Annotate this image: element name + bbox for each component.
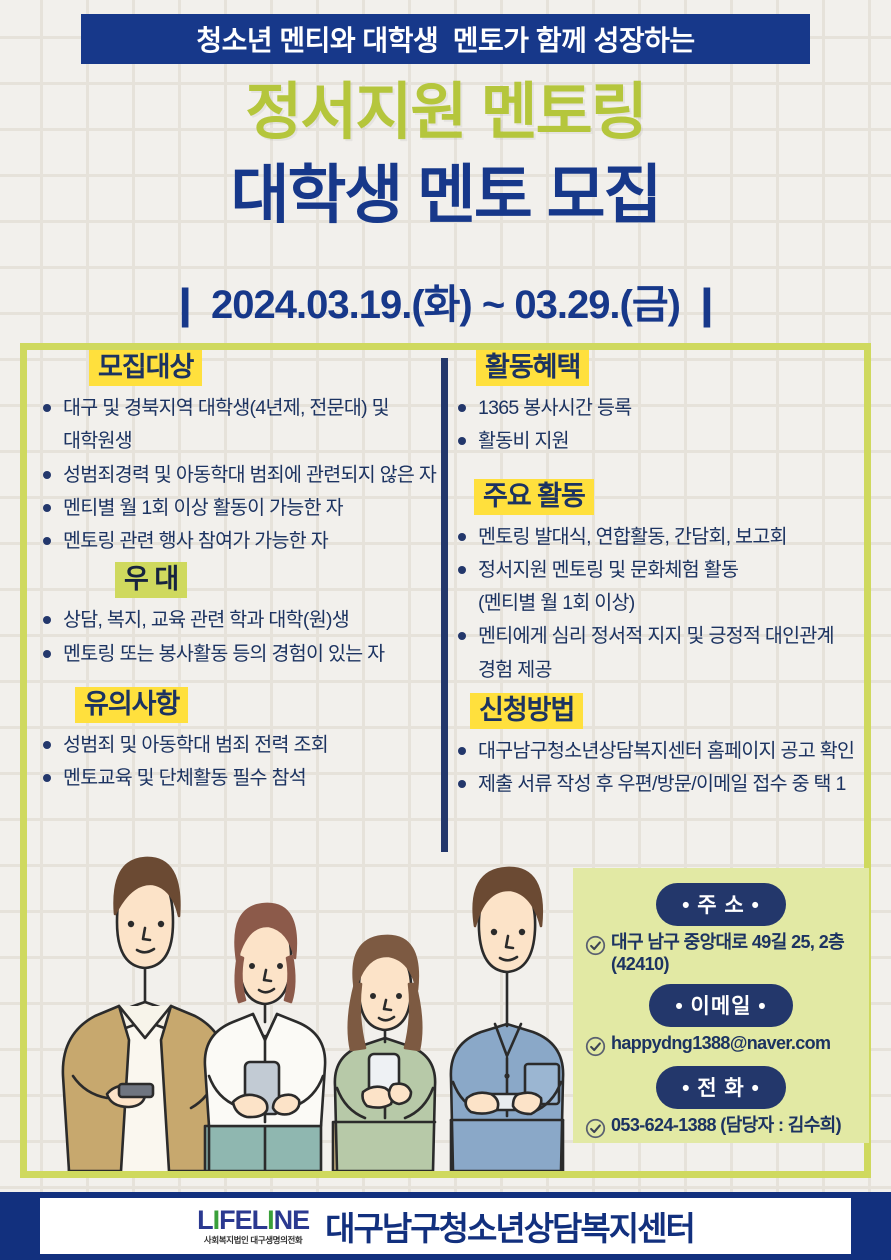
bullet-list: 상담, 복지, 교육 관련 학과 대학(원)생 멘토링 또는 봉사활동 등의 경…: [37, 605, 441, 668]
students-illustration: [33, 826, 593, 1171]
poster-canvas: 청소년 멘티와 대학생 멘토가 함께 성장하는 정서지원 멘토링 대학생 멘토 …: [0, 0, 891, 1260]
email-value: happydng1388@naver.com: [611, 1033, 830, 1055]
list-item: 정서지원 멘토링 및 문화체험 활동: [452, 555, 862, 585]
lifeline-logo-subtitle: 사회복지법인 대구생명의전화: [197, 1236, 309, 1245]
phone-row: 053-624-1388 (담당자 : 김수희): [583, 1115, 859, 1143]
list-item: 멘토링 또는 봉사활동 등의 경험이 있는 자: [37, 639, 441, 669]
section-heading: 활동혜택: [476, 350, 589, 386]
section-how-to-apply: 신청방법 대구남구청소년상담복지센터 홈페이지 공고 확인 제출 서류 작성 후…: [452, 693, 862, 800]
section-heading: 모집대상: [89, 350, 202, 386]
list-item: 1365 봉사시간 등록: [452, 393, 862, 423]
bullet-list: 성범죄 및 아동학대 범죄 전력 조회 멘토교육 및 단체활동 필수 참석: [37, 730, 441, 793]
list-item: 제출 서류 작성 후 우편/방문/이메일 접수 중 택 1: [452, 769, 862, 799]
title-line-2: 대학생 멘토 모집: [0, 163, 891, 227]
list-item: 멘토링 관련 행사 참여가 가능한 자: [37, 526, 441, 556]
check-circle-icon: [585, 1118, 606, 1139]
lifeline-logo-wordmark: LIFELINE: [197, 1207, 309, 1234]
list-item: 멘토교육 및 단체활동 필수 참석: [37, 763, 441, 793]
lifeline-logo: LIFELINE 사회복지법인 대구생명의전화: [197, 1207, 309, 1245]
list-item: 상담, 복지, 교육 관련 학과 대학(원)생: [37, 605, 441, 635]
bullet-list: 1365 봉사시간 등록 활동비 지원: [452, 393, 862, 456]
list-item: 활동비 지원: [452, 426, 862, 456]
list-item: 성범죄 및 아동학대 범죄 전력 조회: [37, 730, 441, 760]
content-frame: 모집대상 대구 및 경북지역 대학생(4년제, 전문대) 및 대학원생 성범죄경…: [20, 343, 871, 1178]
subtitle-banner: 청소년 멘티와 대학생 멘토가 함께 성장하는: [81, 14, 810, 64]
footer-band: LIFELINE 사회복지법인 대구생명의전화 대구남구청소년상담복지센터: [0, 1192, 891, 1260]
bullet-list: 멘토링 발대식, 연합활동, 간담회, 보고회 정서지원 멘토링 및 문화체험 …: [452, 522, 862, 685]
footer-inner-panel: LIFELINE 사회복지법인 대구생명의전화 대구남구청소년상담복지센터: [40, 1198, 851, 1254]
list-item-continuation: 대학원생: [37, 426, 441, 456]
bullet-list: 대구 및 경북지역 대학생(4년제, 전문대) 및 대학원생 성범죄경력 및 아…: [37, 393, 441, 556]
phone-value: 053-624-1388 (담당자 : 김수희): [611, 1115, 841, 1137]
left-column: 모집대상 대구 및 경북지역 대학생(4년제, 전문대) 및 대학원생 성범죄경…: [37, 350, 441, 796]
title-line-1: 정서지원 멘토링: [0, 82, 891, 144]
list-item-continuation: (멘티별 월 1회 이상): [452, 588, 862, 618]
check-circle-icon: [585, 935, 606, 956]
list-item: 멘토링 발대식, 연합활동, 간담회, 보고회: [452, 522, 862, 552]
contact-info-box: • 주 소 • 대구 남구 중앙대로 49길 25, 2층 (42410) • …: [573, 868, 869, 1143]
logo-letters-fel: FEL: [219, 1205, 267, 1235]
logo-letters-ne: NE: [274, 1205, 310, 1235]
list-item: 멘티별 월 1회 이상 활동이 가능한 자: [37, 493, 441, 523]
check-circle-icon: [585, 1036, 606, 1057]
list-item: 성범죄경력 및 아동학대 범죄에 관련되지 않은 자: [37, 460, 441, 490]
right-column: 활동혜택 1365 봉사시간 등록 활동비 지원 주요 활동 멘토링 발대식, …: [452, 350, 862, 802]
address-label-pill: • 주 소 •: [656, 883, 786, 926]
list-item: 멘티에게 심리 정서적 지지 및 긍정적 대인관계: [452, 621, 862, 651]
section-heading: 유의사항: [75, 687, 188, 723]
section-notes: 유의사항 성범죄 및 아동학대 범죄 전력 조회 멘토교육 및 단체활동 필수 …: [37, 687, 441, 794]
list-item: 대구 및 경북지역 대학생(4년제, 전문대) 및: [37, 393, 441, 423]
section-benefits: 활동혜택 1365 봉사시간 등록 활동비 지원: [452, 350, 862, 457]
address-row: 대구 남구 중앙대로 49길 25, 2층 (42410): [583, 932, 859, 979]
center-name: 대구남구청소년상담복지센터: [325, 1202, 694, 1250]
phone-label-pill: • 전 화 •: [656, 1066, 786, 1109]
bullet-list: 대구남구청소년상담복지센터 홈페이지 공고 확인 제출 서류 작성 후 우편/방…: [452, 736, 862, 799]
email-label-pill: • 이메일 •: [649, 984, 792, 1027]
section-recruitment-target: 모집대상 대구 및 경북지역 대학생(4년제, 전문대) 및 대학원생 성범죄경…: [37, 350, 441, 556]
recruitment-date-range: ❙ 2024.03.19.(화) ~ 03.29.(금) ❙: [0, 272, 891, 330]
column-divider: [441, 358, 448, 852]
address-value: 대구 남구 중앙대로 49길 25, 2층 (42410): [611, 932, 844, 975]
email-row[interactable]: happydng1388@naver.com: [583, 1033, 859, 1061]
section-preference: 우 대 상담, 복지, 교육 관련 학과 대학(원)생 멘토링 또는 봉사활동 …: [37, 562, 441, 669]
section-heading: 우 대: [115, 562, 187, 598]
section-heading: 신청방법: [470, 693, 583, 729]
list-item-continuation: 경험 제공: [452, 655, 862, 685]
section-heading: 주요 활동: [474, 479, 594, 515]
list-item: 대구남구청소년상담복지센터 홈페이지 공고 확인: [452, 736, 862, 766]
section-main-activities: 주요 활동 멘토링 발대식, 연합활동, 간담회, 보고회 정서지원 멘토링 및…: [452, 479, 862, 685]
logo-letter-l: L: [197, 1205, 213, 1235]
